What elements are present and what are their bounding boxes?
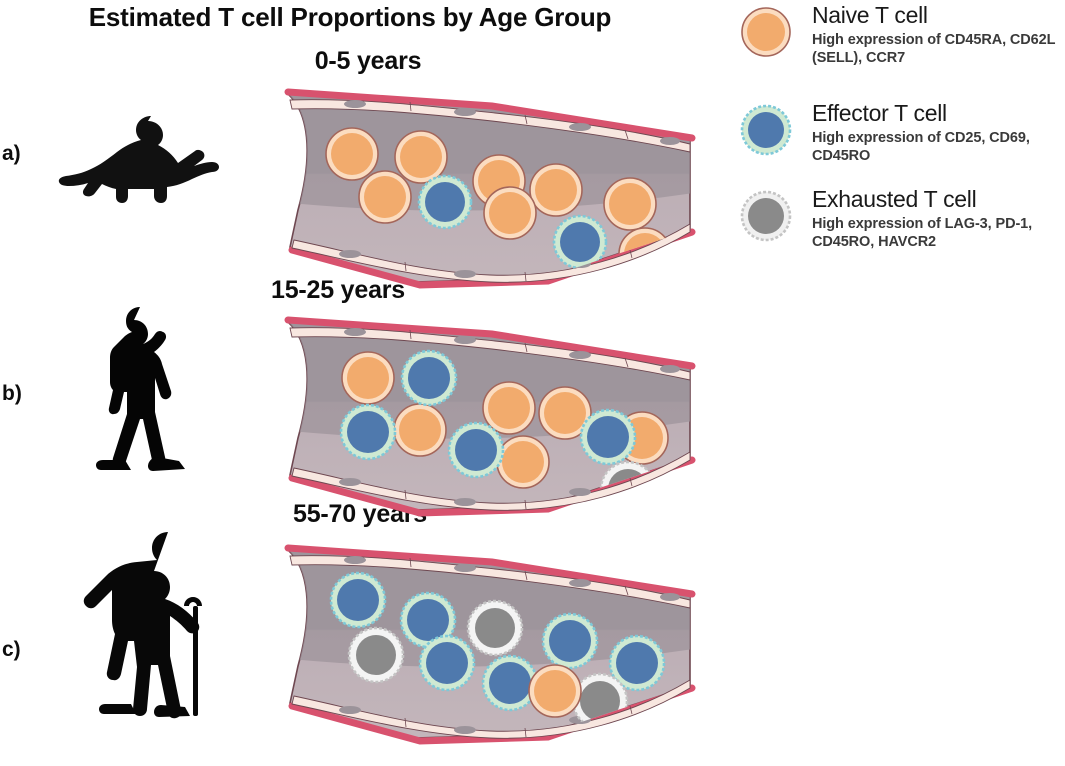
blood-vessel-panel-a (280, 82, 700, 307)
figure-canvas: Estimated T cell Proportions by Age Grou… (0, 0, 1065, 766)
effector-t-cell (449, 423, 503, 477)
elderly-with-cane-icon (75, 528, 220, 723)
effector-t-cell (543, 614, 597, 668)
blood-vessel-panel-b (280, 310, 700, 535)
effector-t-cell (483, 656, 537, 710)
legend-description-naive: High expression of CD45RA, CD62L (SELL),… (812, 31, 1062, 67)
effector-t-cell (581, 410, 635, 464)
naive-t-cell (395, 131, 447, 183)
legend-description-exhausted: High expression of LAG-3, PD-1, CD45RO, … (812, 215, 1062, 251)
effector-t-cell (341, 405, 395, 459)
naive-t-cell-icon (738, 4, 794, 60)
age-group-title-a: 0-5 years (148, 47, 588, 76)
naive-t-cell (359, 171, 411, 223)
naive-t-cell (484, 187, 536, 239)
legend-text-exhausted: Exhausted T cell High expression of LAG-… (812, 186, 1062, 251)
naive-t-cell (530, 164, 582, 216)
effector-t-cell (420, 636, 474, 690)
panel-label-a: a) (2, 142, 21, 166)
naive-t-cell (342, 352, 394, 404)
exhausted-t-cell (468, 601, 522, 655)
legend-text-naive: Naive T cell High expression of CD45RA, … (812, 2, 1062, 67)
legend-title-naive: Naive T cell (812, 2, 1062, 29)
naive-t-cell (497, 436, 549, 488)
effector-t-cell (331, 573, 385, 627)
effector-t-cell (554, 216, 606, 268)
walking-adult-icon (85, 305, 195, 480)
crawling-baby-icon (56, 112, 226, 207)
naive-t-cell (529, 665, 581, 717)
legend-text-effector: Effector T cell High expression of CD25,… (812, 100, 1062, 165)
legend-title-effector: Effector T cell (812, 100, 1062, 127)
panel-label-c: c) (2, 638, 21, 662)
effector-t-cell-icon (738, 102, 794, 158)
effector-t-cell (419, 176, 471, 228)
legend-description-effector: High expression of CD25, CD69, CD45RO (812, 129, 1062, 165)
legend: Naive T cell High expression of CD45RA, … (730, 0, 1065, 290)
naive-t-cell (326, 128, 378, 180)
naive-t-cell (394, 404, 446, 456)
panel-label-b: b) (2, 382, 22, 406)
effector-t-cell (402, 351, 456, 405)
blood-vessel-panel-c (280, 538, 700, 766)
exhausted-t-cell-icon (738, 188, 794, 244)
page-title: Estimated T cell Proportions by Age Grou… (0, 2, 700, 33)
naive-t-cell (604, 178, 656, 230)
exhausted-t-cell (349, 628, 403, 682)
legend-title-exhausted: Exhausted T cell (812, 186, 1062, 213)
